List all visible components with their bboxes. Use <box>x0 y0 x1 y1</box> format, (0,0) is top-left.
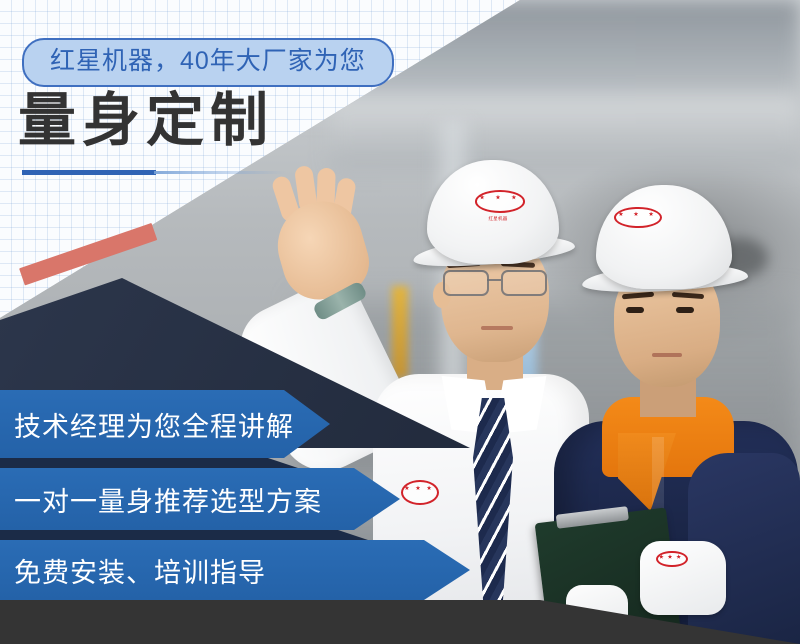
eye <box>676 307 694 313</box>
promo-banner: 红星机器 <box>0 0 800 644</box>
feature-label-2: 一对一量身推荐选型方案 <box>14 480 322 519</box>
helmet-brand-decal: 红星机器 <box>475 190 521 220</box>
headline-underline <box>22 170 156 175</box>
feature-ribbon-1: 技术经理为您全程讲解 <box>0 390 330 458</box>
mouth <box>481 326 513 330</box>
shirt-pocket-logo <box>401 480 435 514</box>
mouth <box>652 353 682 357</box>
helmet-brand-decal <box>614 207 658 235</box>
eyeglasses <box>441 270 551 292</box>
feature-label-1: 技术经理为您全程讲解 <box>14 405 294 444</box>
white-hard-hat <box>596 185 732 289</box>
headline-underline-fade <box>154 171 286 174</box>
glove-logo <box>656 551 684 571</box>
feature-label-3: 免费安装、培训指导 <box>14 551 266 590</box>
feature-ribbon-2: 一对一量身推荐选型方案 <box>0 468 400 530</box>
eye <box>626 307 644 313</box>
helmet-decal-text: 红星机器 <box>477 215 518 221</box>
feature-ribbon-3: 免费安装、培训指导 <box>0 540 470 600</box>
tagline-pill: 红星机器，40年大厂家为您 <box>22 38 394 87</box>
headline: 量身定制 <box>18 92 274 150</box>
worker-navy-uniform <box>548 185 800 644</box>
